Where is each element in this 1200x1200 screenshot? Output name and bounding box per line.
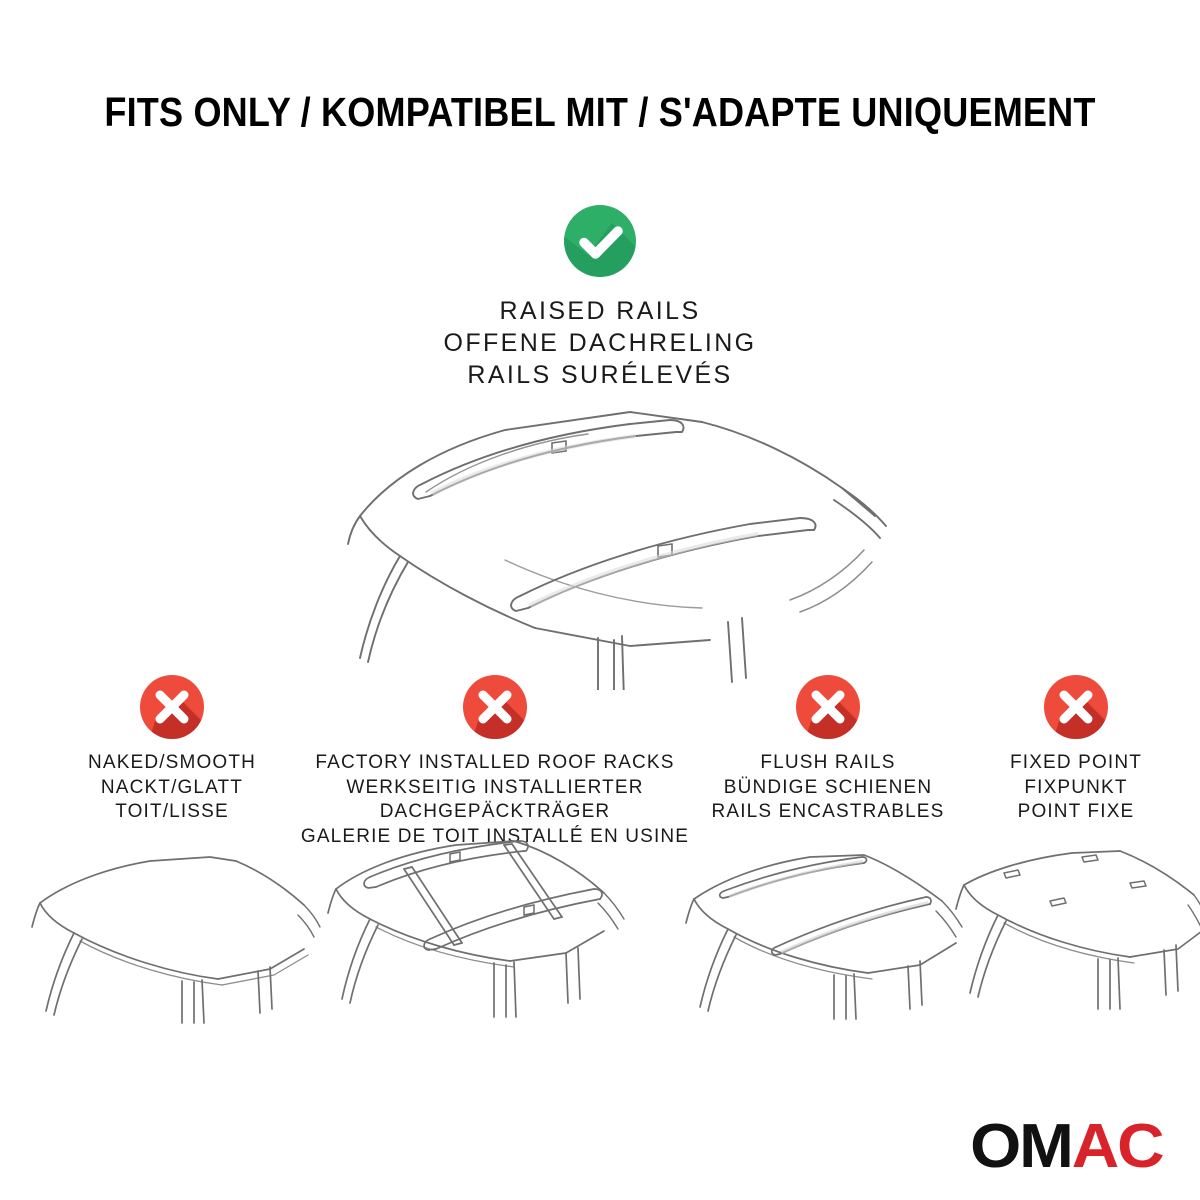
compatible-label-1: OFFENE DACHRELING (300, 327, 900, 359)
incompatible-label-0-1: NACKT/GLATT (22, 776, 322, 801)
incompatible-label-2-0: FLUSH RAILS (672, 751, 984, 776)
incompatible-label-1-2: DACHGEPÄCKTRÄGER (300, 800, 690, 825)
compatible-label-2: RAILS SURÉLEVÉS (300, 359, 900, 391)
compatible-labels: RAISED RAILS OFFENE DACHRELING RAILS SUR… (300, 295, 900, 391)
incompatible-labels-naked-smooth: NAKED/SMOOTH NACKT/GLATT TOIT/LISSE (22, 751, 322, 825)
incompatible-column-flush-rails: FLUSH RAILS BÜNDIGE SCHIENEN RAILS ENCAS… (672, 675, 984, 825)
cross-circle-icon (952, 675, 1200, 739)
compatible-block: RAISED RAILS OFFENE DACHRELING RAILS SUR… (300, 205, 900, 391)
incompatible-columns: NAKED/SMOOTH NACKT/GLATT TOIT/LISSE (0, 675, 1200, 1175)
cross-circle-icon (672, 675, 984, 739)
compatible-label-0: RAISED RAILS (300, 295, 900, 327)
incompatible-labels-flush-rails: FLUSH RAILS BÜNDIGE SCHIENEN RAILS ENCAS… (672, 751, 984, 825)
incompatible-label-1-1: WERKSEITIG INSTALLIERTER (300, 776, 690, 801)
car-roof-naked-smooth-illustration (22, 845, 322, 1025)
infographic-page: FITS ONLY / KOMPATIBEL MIT / S'ADAPTE UN… (0, 0, 1200, 1200)
cross-circle-icon (300, 675, 690, 739)
incompatible-label-0-2: TOIT/LISSE (22, 800, 322, 825)
car-roof-flush-rails-illustration (674, 843, 980, 1023)
incompatible-label-3-2: POINT FIXE (952, 800, 1200, 825)
check-circle-icon (300, 205, 900, 277)
car-roof-raised-rails-illustration (330, 400, 890, 690)
page-title: FITS ONLY / KOMPATIBEL MIT / S'ADAPTE UN… (72, 88, 1128, 136)
incompatible-label-3-1: FIXPUNKT (952, 776, 1200, 801)
logo-text-dark: OM (970, 1116, 1072, 1178)
incompatible-labels-fixed-point: FIXED POINT FIXPUNKT POINT FIXE (952, 751, 1200, 825)
incompatible-column-naked-smooth: NAKED/SMOOTH NACKT/GLATT TOIT/LISSE (22, 675, 322, 825)
cross-circle-icon (22, 675, 322, 739)
omac-logo: OMAC (970, 1116, 1162, 1178)
incompatible-label-2-1: BÜNDIGE SCHIENEN (672, 776, 984, 801)
logo-text-red: AC (1071, 1116, 1162, 1178)
incompatible-column-factory-racks: FACTORY INSTALLED ROOF RACKS WERKSEITIG … (300, 675, 690, 849)
car-roof-fixed-point-illustration (954, 843, 1200, 1023)
car-roof-factory-racks-illustration (308, 827, 678, 1022)
incompatible-label-2-2: RAILS ENCASTRABLES (672, 800, 984, 825)
incompatible-label-0-0: NAKED/SMOOTH (22, 751, 322, 776)
incompatible-label-1-0: FACTORY INSTALLED ROOF RACKS (300, 751, 690, 776)
incompatible-column-fixed-point: FIXED POINT FIXPUNKT POINT FIXE (952, 675, 1200, 825)
incompatible-label-3-0: FIXED POINT (952, 751, 1200, 776)
